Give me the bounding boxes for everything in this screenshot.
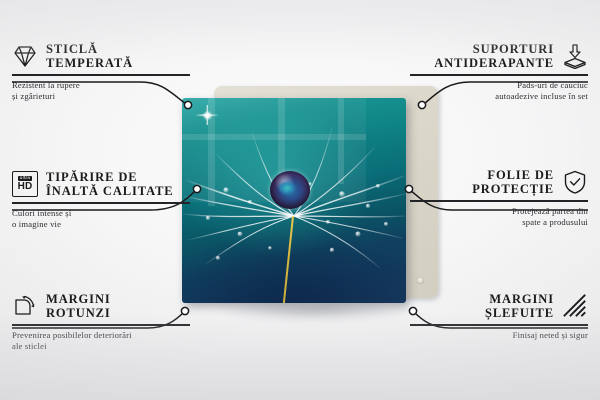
feature-sub-line2: ale sticlei — [12, 341, 190, 352]
product-image — [182, 86, 438, 321]
product-shadow — [188, 300, 438, 326]
feature-tiparire-inalta-calitate[interactable]: ultra HD TIPĂRIRE DE ÎNALTĂ CALITATE Cul… — [12, 170, 190, 230]
feature-title-line1: FOLIE DE — [472, 168, 554, 182]
feature-title-line2: PROTECȚIE — [472, 182, 554, 196]
divider — [12, 74, 190, 76]
divider — [410, 200, 588, 202]
divider — [410, 74, 588, 76]
feature-sub-line1: Rezistent la rupere — [12, 80, 190, 91]
feature-sub-line2: spate a produsului — [410, 217, 588, 228]
feature-title-line1: MARGINI — [485, 292, 554, 306]
feature-margini-rotunzi[interactable]: MARGINI ROTUNZI Prevenirea posibilelor d… — [12, 292, 190, 352]
feature-title-line1: TIPĂRIRE DE — [46, 170, 174, 184]
tempered-glass-panel — [182, 98, 406, 303]
feature-sub-line1: Protejează partea din — [410, 206, 588, 217]
feature-sub-line1: Prevenirea posibilelor deteriorări — [12, 330, 190, 341]
feature-title-line1: MARGINI — [46, 292, 111, 306]
feature-title-line2: TEMPERATĂ — [46, 56, 133, 70]
feature-sub-line1: Finisaj neted și sigur — [410, 330, 588, 341]
feature-suporturi-antiderapante[interactable]: SUPORTURI ANTIDERAPANTE Pads-uri de cauc… — [410, 42, 588, 102]
feature-margini-slefuite[interactable]: MARGINI ȘLEFUITE Finisaj neted și sigur — [410, 292, 588, 341]
diagonal-hatch-icon — [562, 293, 588, 319]
divider — [12, 324, 190, 326]
feature-title-line2: ROTUNZI — [46, 306, 111, 320]
ultra-hd-badge-large-text: HD — [18, 182, 33, 192]
feature-title-line2: ANTIDERAPANTE — [434, 56, 554, 70]
droplet-highlight — [279, 181, 295, 194]
arrow-onto-pad-icon — [562, 43, 588, 69]
feature-title-line2: ÎNALTĂ CALITATE — [46, 184, 174, 198]
anti-slip-pad — [417, 101, 424, 108]
feature-folie-de-protectie[interactable]: FOLIE DE PROTECȚIE Protejează partea din… — [410, 168, 588, 228]
anti-slip-pad — [417, 277, 424, 284]
feature-sub-line1: Pads-uri de cauciuc — [410, 80, 588, 91]
feature-sub-line2: și zgârieturi — [12, 91, 190, 102]
ultra-hd-badge-icon: ultra HD — [12, 171, 38, 197]
feature-sticla-temperata[interactable]: STICLĂ TEMPERATĂ Rezistent la rupere și … — [12, 42, 190, 102]
water-droplet — [270, 171, 310, 209]
feature-sub-line2: autoadezive incluse în set — [410, 91, 588, 102]
divider — [12, 202, 190, 204]
feature-sub-line1: Culori intense și — [12, 208, 190, 219]
shield-check-icon — [562, 169, 588, 195]
divider — [410, 324, 588, 326]
feature-title-line1: SUPORTURI — [434, 42, 554, 56]
feature-sub-line2: o imagine vie — [12, 219, 190, 230]
diamond-icon — [12, 43, 38, 69]
infographic-canvas: STICLĂ TEMPERATĂ Rezistent la rupere și … — [0, 0, 600, 400]
feature-title-line2: ȘLEFUITE — [485, 306, 554, 320]
rounded-corner-icon — [12, 293, 38, 319]
feature-title-line1: STICLĂ — [46, 42, 133, 56]
